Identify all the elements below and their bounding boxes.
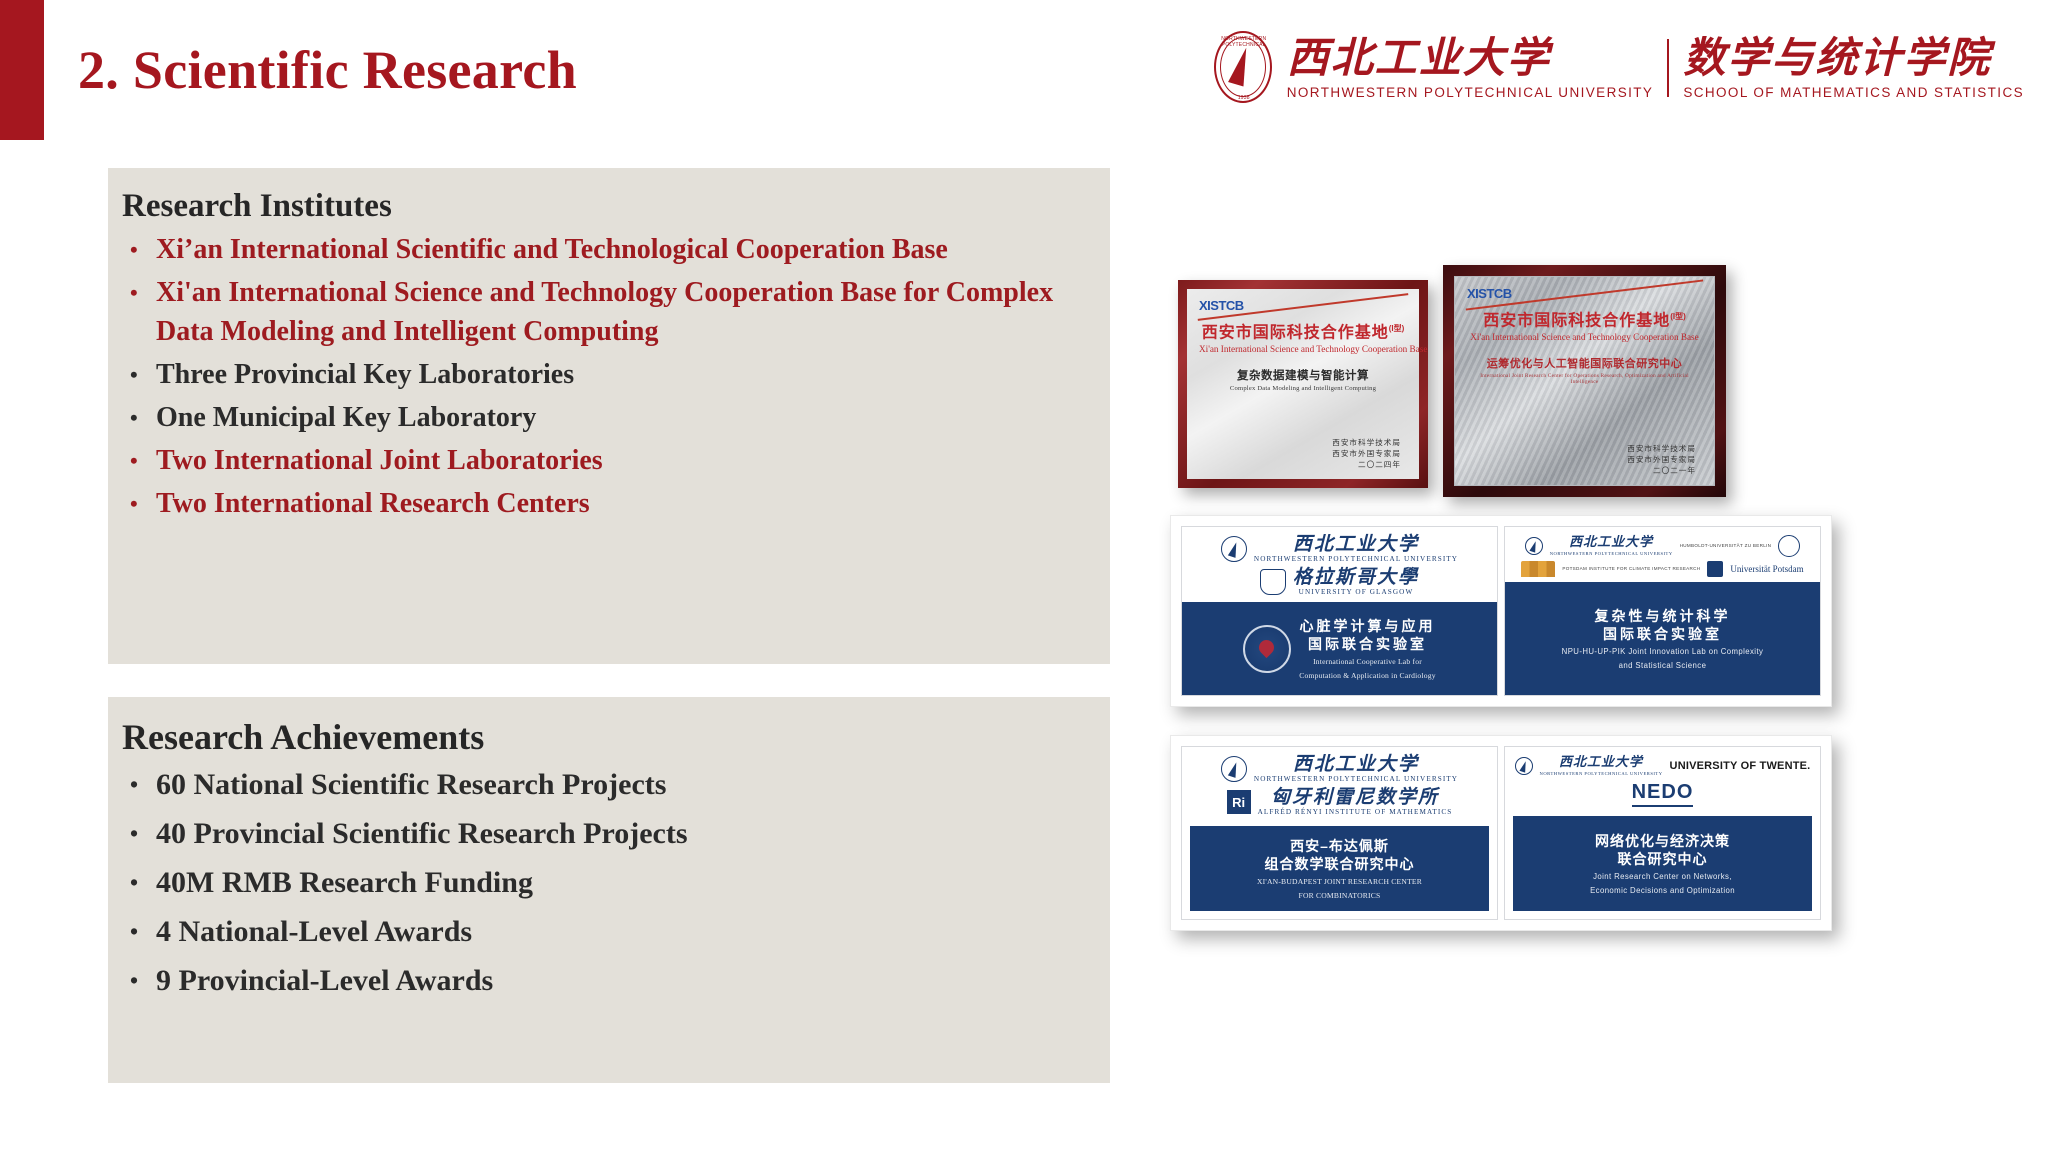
partner-name-en: NORTHWESTERN POLYTECHNICAL UNIVERSITY (1254, 555, 1458, 564)
bullet-dot-icon (122, 957, 156, 1004)
partner-name-cn: 匈牙利雷尼数学所 (1271, 787, 1439, 808)
center-name-cn-line1: 网络优化与经济决策 (1595, 832, 1730, 850)
heart-seal-icon (1243, 625, 1291, 673)
seal-top-text: NORTHWESTERN POLYTECHNICAL (1211, 36, 1277, 48)
list-item: One Municipal Key Laboratory (122, 398, 1090, 437)
research-achievements-list: 60 National Scientific Research Projects… (108, 761, 1110, 1004)
partner-npu: 西北工业大学 NORTHWESTERN POLYTECHNICAL UNIVER… (1221, 534, 1458, 564)
sign-name-plate: 网络优化与经济决策 联合研究中心 Joint Research Center o… (1505, 812, 1820, 919)
sign-name-plate: 西安–布达佩斯 组合数学联合研究中心 XI'AN-BUDAPEST JOINT … (1182, 822, 1497, 919)
partner-npu: 西北工业大学 NORTHWESTERN POLYTECHNICAL UNIVER… (1221, 754, 1458, 784)
research-achievements-panel: Research Achievements 60 National Scient… (108, 697, 1110, 1083)
sign-card-nedo-center: 西北工业大学 NORTHWESTERN POLYTECHNICAL UNIVER… (1504, 746, 1821, 920)
npu-emblem-icon (1221, 756, 1247, 782)
university-logo-lockup: NORTHWESTERN POLYTECHNICAL 1938 西北工业大学 N… (1211, 26, 2024, 110)
npu-emblem-icon (1515, 757, 1533, 775)
glasgow-crest-icon (1260, 569, 1286, 595)
sign-name-plate: 心脏学计算与应用 国际联合实验室 International Cooperati… (1182, 602, 1497, 695)
center-name-en-line2: Economic Decisions and Optimization (1590, 886, 1735, 896)
plaque-title-en: Xi'an International Science and Technolo… (1199, 343, 1407, 355)
bullet-dot-icon (122, 810, 156, 857)
university-name-en: NORTHWESTERN POLYTECHNICAL UNIVERSITY (1287, 84, 1654, 101)
sign-partners: 西北工业大学 NORTHWESTERN POLYTECHNICAL UNIVER… (1182, 527, 1497, 602)
partner-name-en: ALFRÉD RÉNYI INSTITUTE OF MATHEMATICS (1258, 808, 1453, 817)
bullet-dot-icon (122, 230, 156, 269)
bullet-dot-icon (122, 398, 156, 437)
list-item: 9 Provincial-Level Awards (122, 957, 1090, 1004)
bullet-dot-icon (122, 273, 156, 312)
research-institutes-panel: Research Institutes Xi’an International … (108, 168, 1110, 664)
plaque-title-cn: 西安市国际科技合作基地(I型) (1199, 319, 1407, 342)
bullet-dot-icon (122, 761, 156, 808)
center-name-en-line1: Joint Research Center on Networks, (1593, 872, 1732, 882)
sign-card-cardiology-lab: 西北工业大学 NORTHWESTERN POLYTECHNICAL UNIVER… (1181, 526, 1498, 696)
partner-name-cn: 西北工业大学 (1293, 754, 1419, 775)
center-name-cn-line2: 联合研究中心 (1618, 850, 1708, 868)
partner-renyi: Ri 匈牙利雷尼数学所 ALFRÉD RÉNYI INSTITUTE OF MA… (1227, 787, 1453, 817)
list-item-label: 9 Provincial-Level Awards (156, 957, 1090, 1004)
bullet-dot-icon (122, 908, 156, 955)
list-item: Two International Joint Laboratories (122, 441, 1090, 480)
npu-emblem-icon (1221, 536, 1247, 562)
partner-name-cn: 西北工业大学 (1293, 534, 1419, 555)
partner-name-en: NORTHWESTERN POLYTECHNICAL UNIVERSITY (1550, 549, 1673, 558)
lab-name-en-line1: NPU-HU-UP-PIK Joint Innovation Lab on Co… (1562, 647, 1764, 657)
renyi-logo-icon: Ri (1227, 790, 1251, 814)
lab-name-en-line1: International Cooperative Lab for (1299, 657, 1435, 667)
plaque-photo-cooperation-base-2021: XISTCB 西安市国际科技合作基地(I型) Xi'an Internation… (1443, 265, 1726, 497)
plaque-title-cn: 西安市国际科技合作基地(I型) (1467, 307, 1702, 330)
sign-partners: 西北工业大学 NORTHWESTERN POLYTECHNICAL UNIVER… (1505, 747, 1820, 812)
berlin-crest-icon (1778, 535, 1800, 557)
center-name-en-line2: FOR COMBINATORICS (1299, 891, 1381, 901)
partner-name-en: NORTHWESTERN POLYTECHNICAL UNIVERSITY (1254, 775, 1458, 784)
center-name-cn-line1: 西安–布达佩斯 (1290, 837, 1389, 855)
school-name-block: 数学与统计学院 SCHOOL OF MATHEMATICS AND STATIS… (1683, 36, 2024, 101)
list-item-label: 40 Provincial Scientific Research Projec… (156, 810, 1090, 857)
plaque-field-cn: 运筹优化与人工智能国际联合研究中心 (1467, 355, 1702, 371)
partner-name-berlin: HUMBOLDT-UNIVERSITÄT ZU BERLIN (1680, 543, 1772, 549)
research-achievements-heading: Research Achievements (108, 697, 1110, 759)
partner-row-upper: 西北工业大学 NORTHWESTERN POLYTECHNICAL UNIVER… (1525, 534, 1801, 558)
list-item-label: Xi’an International Scientific and Techn… (156, 230, 1090, 269)
list-item: 60 National Scientific Research Projects (122, 761, 1090, 808)
program-row: NEDO (1632, 781, 1694, 807)
sign-card-complexity-lab: 西北工业大学 NORTHWESTERN POLYTECHNICAL UNIVER… (1504, 526, 1821, 696)
plaque-field-en: Complex Data Modeling and Intelligent Co… (1199, 385, 1407, 392)
sign-card-combinatorics-center: 西北工业大学 NORTHWESTERN POLYTECHNICAL UNIVER… (1181, 746, 1498, 920)
lab-name-cn-line2: 国际联合实验室 (1562, 625, 1764, 643)
list-item: Three Provincial Key Laboratories (122, 355, 1090, 394)
plaque-wood-frame: XISTCB 西安市国际科技合作基地(I型) Xi'an Internation… (1178, 280, 1428, 488)
sign-partners: 西北工业大学 NORTHWESTERN POLYTECHNICAL UNIVER… (1505, 527, 1820, 582)
university-name-block: 西北工业大学 NORTHWESTERN POLYTECHNICAL UNIVER… (1287, 36, 1654, 101)
research-institutes-list: Xi’an International Scientific and Techn… (108, 230, 1110, 523)
plaque-plate: XISTCB 西安市国际科技合作基地(I型) Xi'an Internation… (1187, 289, 1419, 479)
page-title: 2. Scientific Research (78, 38, 577, 102)
lab-name-en-line2: Computation & Application in Cardiology (1299, 671, 1435, 681)
title-accent-bar (0, 0, 44, 140)
partner-name-en: UNIVERSITY OF GLASGOW (1299, 588, 1414, 597)
partner-row-upper: 西北工业大学 NORTHWESTERN POLYTECHNICAL UNIVER… (1515, 754, 1811, 778)
partner-name-en: NORTHWESTERN POLYTECHNICAL UNIVERSITY (1540, 769, 1663, 778)
potsdam-crest-icon (1707, 561, 1723, 577)
list-item-label: Two International Joint Laboratories (156, 441, 1090, 480)
list-item-label: One Municipal Key Laboratory (156, 398, 1090, 437)
center-name-cn-line2: 组合数学联合研究中心 (1265, 855, 1415, 873)
plaque-plate: XISTCB 西安市国际科技合作基地(I型) Xi'an Internation… (1454, 276, 1715, 486)
bullet-dot-icon (122, 355, 156, 394)
plaque-issuer: 西安市科学技术局 西安市外国专家局 二〇二一年 (1467, 443, 1702, 476)
university-name-cn: 西北工业大学 (1287, 36, 1654, 82)
logo-divider (1667, 39, 1669, 97)
npu-emblem-icon (1525, 537, 1543, 555)
partner-name-cn: 西北工业大学 (1559, 754, 1643, 769)
list-item: Xi'an International Science and Technolo… (122, 273, 1090, 351)
lab-name-cn-line2: 国际联合实验室 (1299, 635, 1435, 653)
xistcb-logo: XISTCB (1199, 298, 1407, 313)
partner-name-cn: 西北工业大学 (1569, 534, 1653, 549)
bullet-dot-icon (122, 484, 156, 523)
seal-bottom-text: 1938 (1211, 95, 1277, 101)
list-item: 4 National-Level Awards (122, 908, 1090, 955)
school-name-cn: 数学与统计学院 (1683, 36, 2024, 82)
lab-name-cn-line1: 心脏学计算与应用 (1299, 617, 1435, 635)
partner-row-lower: POTSDAM INSTITUTE FOR CLIMATE IMPACT RES… (1521, 561, 1803, 577)
pik-logo-icon (1521, 561, 1555, 577)
center-name-en-line1: XI'AN-BUDAPEST JOINT RESEARCH CENTER (1257, 877, 1422, 887)
list-item-label: 60 National Scientific Research Projects (156, 761, 1090, 808)
list-item: Xi’an International Scientific and Techn… (122, 230, 1090, 269)
list-item-label: Three Provincial Key Laboratories (156, 355, 1090, 394)
list-item: 40 Provincial Scientific Research Projec… (122, 810, 1090, 857)
bullet-dot-icon (122, 441, 156, 480)
plaque-field-en: International Joint Research Center for … (1467, 373, 1702, 385)
plaque-title-en: Xi'an International Science and Technolo… (1467, 331, 1702, 343)
partner-name-twente: UNIVERSITY OF TWENTE. (1670, 760, 1811, 772)
partner-name-pik: POTSDAM INSTITUTE FOR CLIMATE IMPACT RES… (1562, 566, 1700, 572)
lab-signs-photo-row-1: 西北工业大学 NORTHWESTERN POLYTECHNICAL UNIVER… (1170, 515, 1832, 707)
nedo-wordmark: NEDO (1632, 781, 1694, 807)
school-name-en: SCHOOL OF MATHEMATICS AND STATISTICS (1683, 84, 2024, 101)
sign-partners: 西北工业大学 NORTHWESTERN POLYTECHNICAL UNIVER… (1182, 747, 1497, 822)
list-item-label: Xi'an International Science and Technolo… (156, 273, 1090, 351)
bullet-dot-icon (122, 859, 156, 906)
lab-name-en-line2: and Statistical Science (1562, 661, 1764, 671)
plaque-wood-frame: XISTCB 西安市国际科技合作基地(I型) Xi'an Internation… (1443, 265, 1726, 497)
xistcb-logo: XISTCB (1467, 286, 1702, 301)
list-item-label: 4 National-Level Awards (156, 908, 1090, 955)
list-item: Two International Research Centers (122, 484, 1090, 523)
photo-gallery: XISTCB 西安市国际科技合作基地(I型) Xi'an Internation… (1160, 250, 1920, 1080)
partner-name-potsdam: Universität Potsdam (1730, 564, 1803, 574)
partner-name-cn: 格拉斯哥大學 (1293, 567, 1419, 588)
list-item-label: Two International Research Centers (156, 484, 1090, 523)
research-institutes-heading: Research Institutes (108, 168, 1110, 226)
plaque-field-cn: 复杂数据建模与智能计算 (1199, 367, 1407, 383)
partner-glasgow: 格拉斯哥大學 UNIVERSITY OF GLASGOW (1260, 567, 1419, 597)
lab-signs-photo-row-2: 西北工业大学 NORTHWESTERN POLYTECHNICAL UNIVER… (1170, 735, 1832, 931)
sign-name-plate: 复杂性与统计科学 国际联合实验室 NPU-HU-UP-PIK Joint Inn… (1505, 582, 1820, 695)
lab-name-cn-line1: 复杂性与统计科学 (1562, 607, 1764, 625)
plaque-issuer: 西安市科学技术局 西安市外国专家局 二〇二四年 (1199, 437, 1407, 470)
list-item: 40M RMB Research Funding (122, 859, 1090, 906)
university-seal-icon: NORTHWESTERN POLYTECHNICAL 1938 (1211, 29, 1277, 107)
list-item-label: 40M RMB Research Funding (156, 859, 1090, 906)
plaque-photo-cooperation-base-2024: XISTCB 西安市国际科技合作基地(I型) Xi'an Internation… (1178, 280, 1428, 488)
